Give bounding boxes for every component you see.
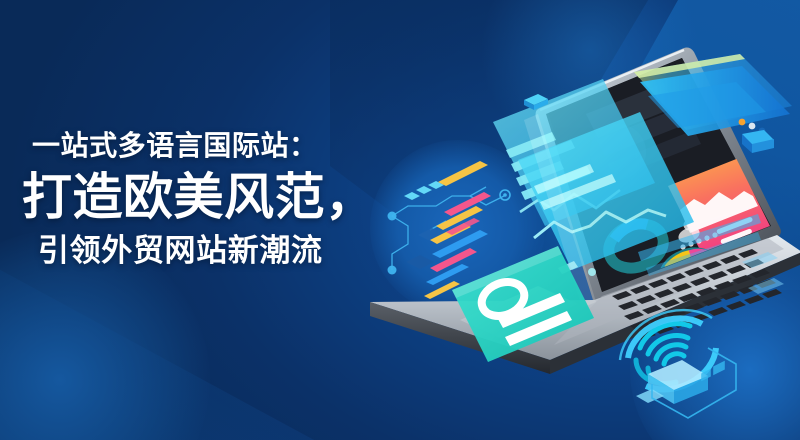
headline-line-1: 一站式多语言国际站： xyxy=(22,126,392,166)
headline-line-2: 打造欧美风范， xyxy=(22,166,392,228)
headline-line-3: 引领外贸网站新潮流 xyxy=(22,228,392,274)
laptop-illustration xyxy=(350,30,800,430)
promo-banner: 一站式多语言国际站： 打造欧美风范， 引领外贸网站新潮流 xyxy=(0,0,800,440)
headline-block: 一站式多语言国际站： 打造欧美风范， 引领外贸网站新潮流 xyxy=(22,126,392,274)
